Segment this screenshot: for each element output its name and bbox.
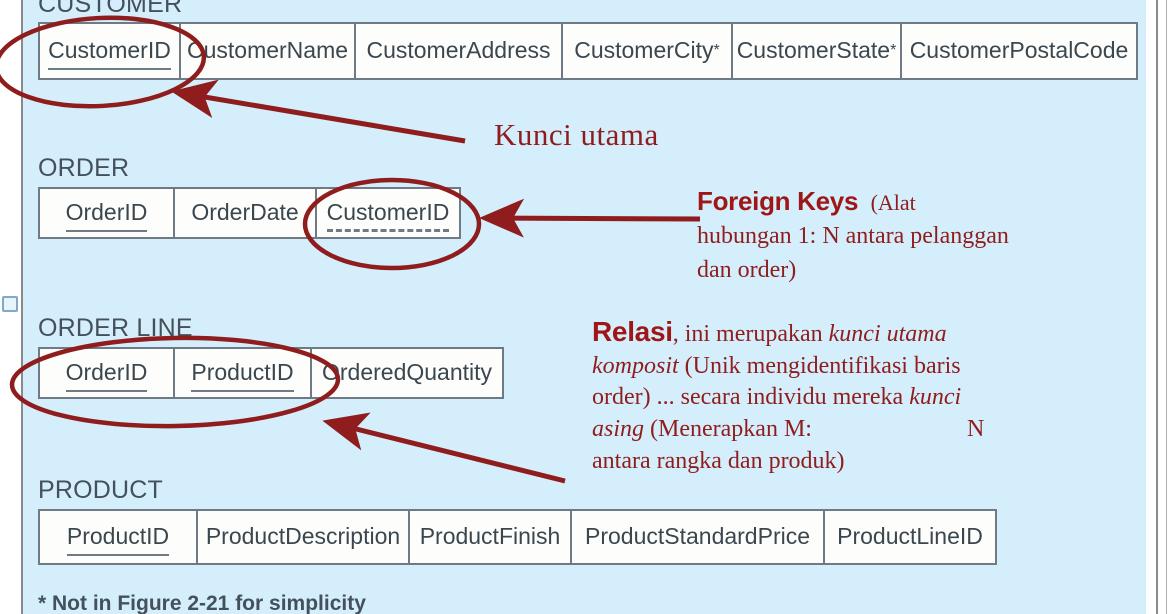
attribute-cell-productfinish[interactable]: ProductFinish	[410, 511, 572, 563]
annotation-relation-seg1-italic: kunci utama	[829, 321, 947, 347]
annotation-relation-seg2-italic: komposit	[592, 353, 679, 379]
attribute-cell-productid[interactable]: ProductID	[40, 511, 198, 563]
attribute-cell-productstandardprice[interactable]: ProductStandardPrice	[572, 511, 825, 563]
attribute-label: OrderedQuantity	[322, 359, 492, 388]
attribute-cell-orderline-orderid[interactable]: OrderID	[40, 349, 175, 397]
annotation-foreign-keys-line3: dan order)	[697, 255, 1117, 286]
annotation-foreign-keys-line2: hubungan 1: N antara pelanggan	[697, 221, 1117, 252]
attribute-label: OrderID	[66, 359, 148, 388]
attribute-label: CustomerAddress	[366, 37, 550, 66]
entity-product: PRODUCT ProductID ProductDescription Pro…	[38, 478, 997, 565]
attribute-cell-orderid[interactable]: OrderID	[40, 189, 175, 237]
annotation-primary-key-label: Kunci utama	[494, 117, 659, 153]
annotation-relation-seg1: , ini merupakan	[673, 321, 829, 347]
attribute-label: CustomerState	[737, 37, 890, 66]
annotation-relation-seg2: (Unik mengidentifikasi baris	[679, 353, 961, 379]
entity-customer: CUSTOMER CustomerID CustomerName Custome…	[38, 0, 1138, 80]
attribute-label: ProductDescription	[206, 523, 400, 552]
attribute-cell-customerid[interactable]: CustomerID	[40, 24, 181, 78]
attribute-cell-customername[interactable]: CustomerName	[181, 24, 356, 78]
attribute-cell-productlineid[interactable]: ProductLineID	[825, 511, 995, 563]
attribute-cell-productdescription[interactable]: ProductDescription	[198, 511, 410, 563]
attribute-cell-orderedquantity[interactable]: OrderedQuantity	[312, 349, 502, 397]
entity-order-line: ORDER LINE OrderID ProductID OrderedQuan…	[38, 316, 504, 399]
annotation-foreign-keys-tail: (Alat	[871, 190, 916, 215]
attribute-label: CustomerName	[187, 37, 348, 66]
relation-table-product: ProductID ProductDescription ProductFini…	[38, 509, 997, 565]
relation-table-order-line: OrderID ProductID OrderedQuantity	[38, 347, 504, 399]
attribute-label: OrderDate	[191, 199, 298, 228]
attribute-cell-customercity[interactable]: CustomerCity*	[563, 24, 733, 78]
entity-order: ORDER OrderID OrderDate CustomerID	[38, 156, 461, 239]
attribute-cell-orderdate[interactable]: OrderDate	[175, 189, 317, 237]
attribute-label: ProductID	[191, 359, 293, 388]
annotation-relation-seg4-italic: asing	[592, 416, 644, 442]
attribute-cell-orderline-productid[interactable]: ProductID	[175, 349, 312, 397]
annotation-foreign-keys-heading: Foreign Keys	[697, 186, 858, 216]
attribute-cell-customerpostalcode[interactable]: CustomerPostalCode	[902, 24, 1136, 78]
entity-title-order: ORDER	[38, 156, 461, 181]
attribute-cell-order-customerid[interactable]: CustomerID	[317, 189, 459, 237]
entity-title-customer: CUSTOMER	[38, 0, 1138, 17]
attribute-label: ProductID	[67, 523, 169, 552]
relation-table-customer: CustomerID CustomerName CustomerAddress …	[38, 22, 1138, 80]
page-edge-rule	[1166, 0, 1167, 614]
attribute-label: OrderID	[66, 199, 148, 228]
annotation-relation: Relasi, ini merupakan kunci utama kompos…	[592, 316, 1112, 477]
attribute-label: CustomerID	[48, 37, 171, 66]
attribute-label: ProductStandardPrice	[585, 523, 810, 552]
attribute-label: ProductFinish	[420, 523, 561, 552]
right-margin-rule	[1156, 0, 1158, 614]
annotation-relation-seg3-italic: kunci	[909, 384, 961, 410]
attribute-cell-customerstate[interactable]: CustomerState*	[733, 24, 902, 78]
left-margin-rule	[21, 0, 23, 614]
annotation-relation-cardinality-n: N	[967, 416, 984, 442]
diagram-canvas: CUSTOMER CustomerID CustomerName Custome…	[0, 0, 1169, 614]
attribute-label: ProductLineID	[837, 523, 983, 552]
attribute-label: CustomerCity	[574, 37, 713, 66]
annotation-relation-heading: Relasi	[592, 316, 673, 347]
annotation-relation-seg4: (Menerapkan M:	[644, 416, 812, 442]
figure-footnote: * Not in Figure 2-21 for simplicity	[38, 592, 366, 614]
annotation-relation-seg5: antara rangka dan produk)	[592, 446, 1112, 477]
annotation-relation-seg3: order) ... secara individu mereka	[592, 384, 909, 410]
attribute-label: CustomerID	[327, 199, 450, 228]
entity-title-product: PRODUCT	[38, 478, 997, 503]
relation-table-order: OrderID OrderDate CustomerID	[38, 187, 461, 239]
entity-title-order-line: ORDER LINE	[38, 316, 504, 341]
attribute-label: CustomerPostalCode	[910, 37, 1129, 66]
margin-handle-marker[interactable]	[2, 296, 18, 312]
attribute-cell-customeraddress[interactable]: CustomerAddress	[356, 24, 563, 78]
annotation-foreign-keys: Foreign Keys (Alat hubungan 1: N antara …	[697, 186, 1117, 286]
